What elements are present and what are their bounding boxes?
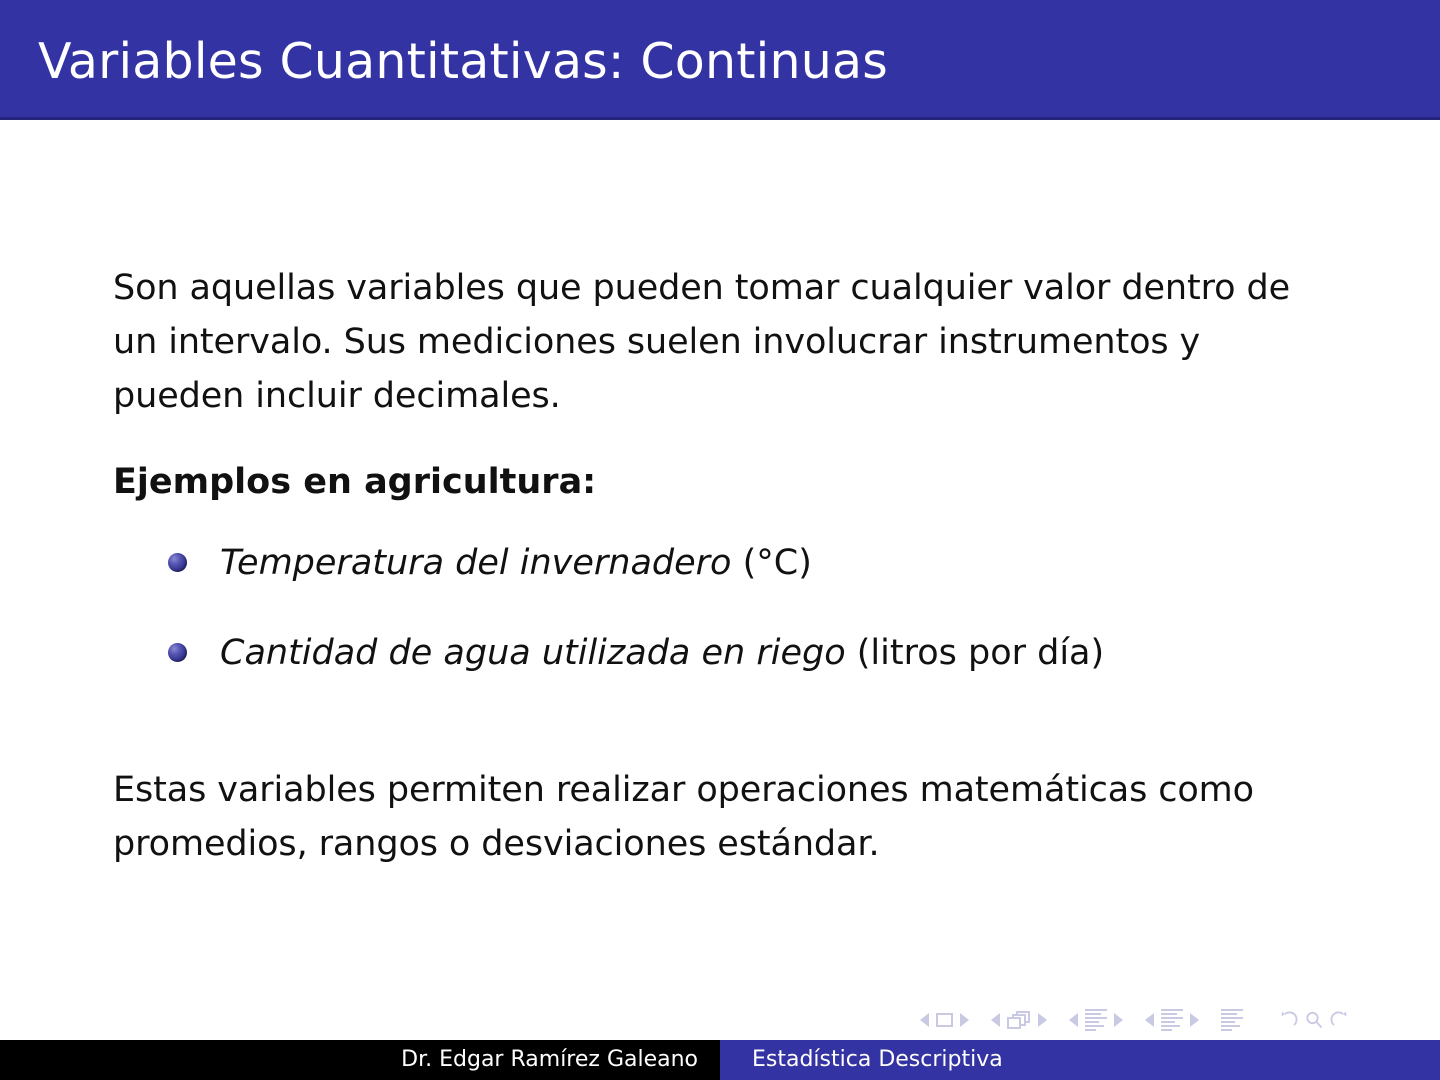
document-icon[interactable] bbox=[1221, 1009, 1243, 1031]
document-nav-group[interactable] bbox=[1221, 1009, 1243, 1031]
slide-prev-icon[interactable] bbox=[920, 1013, 929, 1027]
list-item-emphasis: Temperatura del invernadero bbox=[220, 543, 731, 583]
list-item: Temperatura del invernadero (°C) bbox=[113, 540, 1343, 586]
section-next-icon[interactable] bbox=[1190, 1013, 1199, 1027]
footer-author: Dr. Edgar Ramírez Galeano bbox=[401, 1047, 698, 1073]
examples-heading: Ejemplos en agricultura: bbox=[113, 459, 596, 505]
list-item: Cantidad de agua utilizada en riego (lit… bbox=[113, 630, 1343, 676]
list-item-unit: (°C) bbox=[731, 543, 811, 583]
slide-nav-group[interactable] bbox=[920, 1013, 969, 1027]
page-title: Variables Cuantitativas: Continuas bbox=[38, 34, 888, 90]
frame-nav-group[interactable] bbox=[991, 1011, 1047, 1030]
misc-nav-group[interactable] bbox=[1277, 1009, 1351, 1031]
list-item-unit: (litros por día) bbox=[846, 633, 1105, 673]
bullet-ball-icon bbox=[168, 553, 187, 572]
slide-footer: Dr. Edgar Ramírez Galeano Estadística De… bbox=[0, 1040, 1440, 1080]
slide-next-icon[interactable] bbox=[960, 1013, 969, 1027]
frame-next-icon[interactable] bbox=[1038, 1013, 1047, 1027]
bullet-ball-icon bbox=[168, 643, 187, 662]
list-item-emphasis: Cantidad de agua utilizada en riego bbox=[220, 633, 846, 673]
subsection-next-icon[interactable] bbox=[1114, 1013, 1123, 1027]
beamer-navigation-bar[interactable] bbox=[920, 1005, 1420, 1035]
examples-list: Temperatura del invernadero (°C) Cantida… bbox=[113, 540, 1343, 720]
intro-paragraph: Son aquellas variables que pueden tomar … bbox=[113, 261, 1328, 423]
search-icon[interactable] bbox=[1303, 1009, 1325, 1031]
footer-subject-section: Estadística Descriptiva bbox=[720, 1040, 1440, 1080]
section-nav-group[interactable] bbox=[1145, 1009, 1199, 1031]
subsection-nav-group[interactable] bbox=[1069, 1009, 1123, 1031]
section-prev-icon[interactable] bbox=[1145, 1013, 1154, 1027]
subsection-prev-icon[interactable] bbox=[1069, 1013, 1078, 1027]
frame-prev-icon[interactable] bbox=[991, 1013, 1000, 1027]
back-icon[interactable] bbox=[1277, 1009, 1299, 1031]
footer-subject: Estadística Descriptiva bbox=[752, 1047, 1003, 1073]
forward-icon[interactable] bbox=[1329, 1009, 1351, 1031]
slide-icon[interactable] bbox=[936, 1013, 953, 1027]
section-icon[interactable] bbox=[1161, 1009, 1183, 1031]
frame-icon[interactable] bbox=[1007, 1011, 1031, 1030]
footer-author-section: Dr. Edgar Ramírez Galeano bbox=[0, 1040, 720, 1080]
outro-paragraph: Estas variables permiten realizar operac… bbox=[113, 763, 1343, 871]
subsection-icon[interactable] bbox=[1085, 1009, 1107, 1031]
slide-body: Son aquellas variables que pueden tomar … bbox=[0, 120, 1440, 1000]
